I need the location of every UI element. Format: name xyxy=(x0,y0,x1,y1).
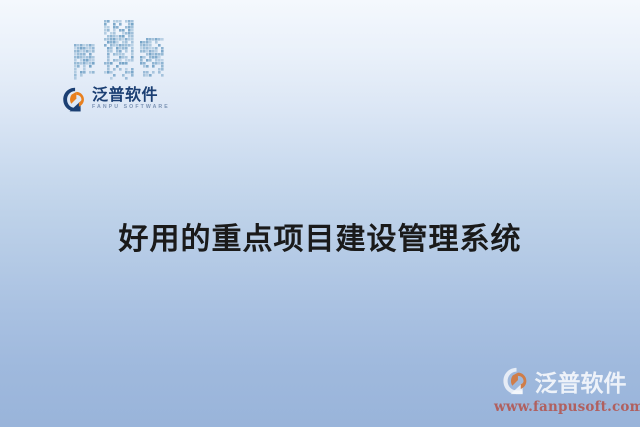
presentation-slide: 泛普软件 FANPU SOFTWARE 好用的重点项目建设管理系统 泛普软件 w… xyxy=(0,0,640,427)
brand-name-cn: 泛普软件 xyxy=(92,87,170,103)
page-title: 好用的重点项目建设管理系统 xyxy=(0,214,640,258)
fanpu-swoosh-logo-icon xyxy=(502,366,532,396)
watermark: 泛普软件 www.fanpusoft.com xyxy=(494,364,634,415)
pixel-city-skyline-icon xyxy=(68,12,178,82)
watermark-url: www.fanpusoft.com xyxy=(494,399,634,415)
fanpu-swoosh-logo-icon xyxy=(62,86,89,113)
brand-name-en: FANPU SOFTWARE xyxy=(92,105,170,110)
brand-logo: 泛普软件 FANPU SOFTWARE xyxy=(62,84,178,114)
brand-block: 泛普软件 FANPU SOFTWARE xyxy=(62,12,178,114)
watermark-logo-row: 泛普软件 xyxy=(494,364,634,398)
brand-text: 泛普软件 FANPU SOFTWARE xyxy=(92,87,170,110)
skyline-svg xyxy=(68,12,178,82)
watermark-name-cn: 泛普软件 xyxy=(535,364,627,398)
